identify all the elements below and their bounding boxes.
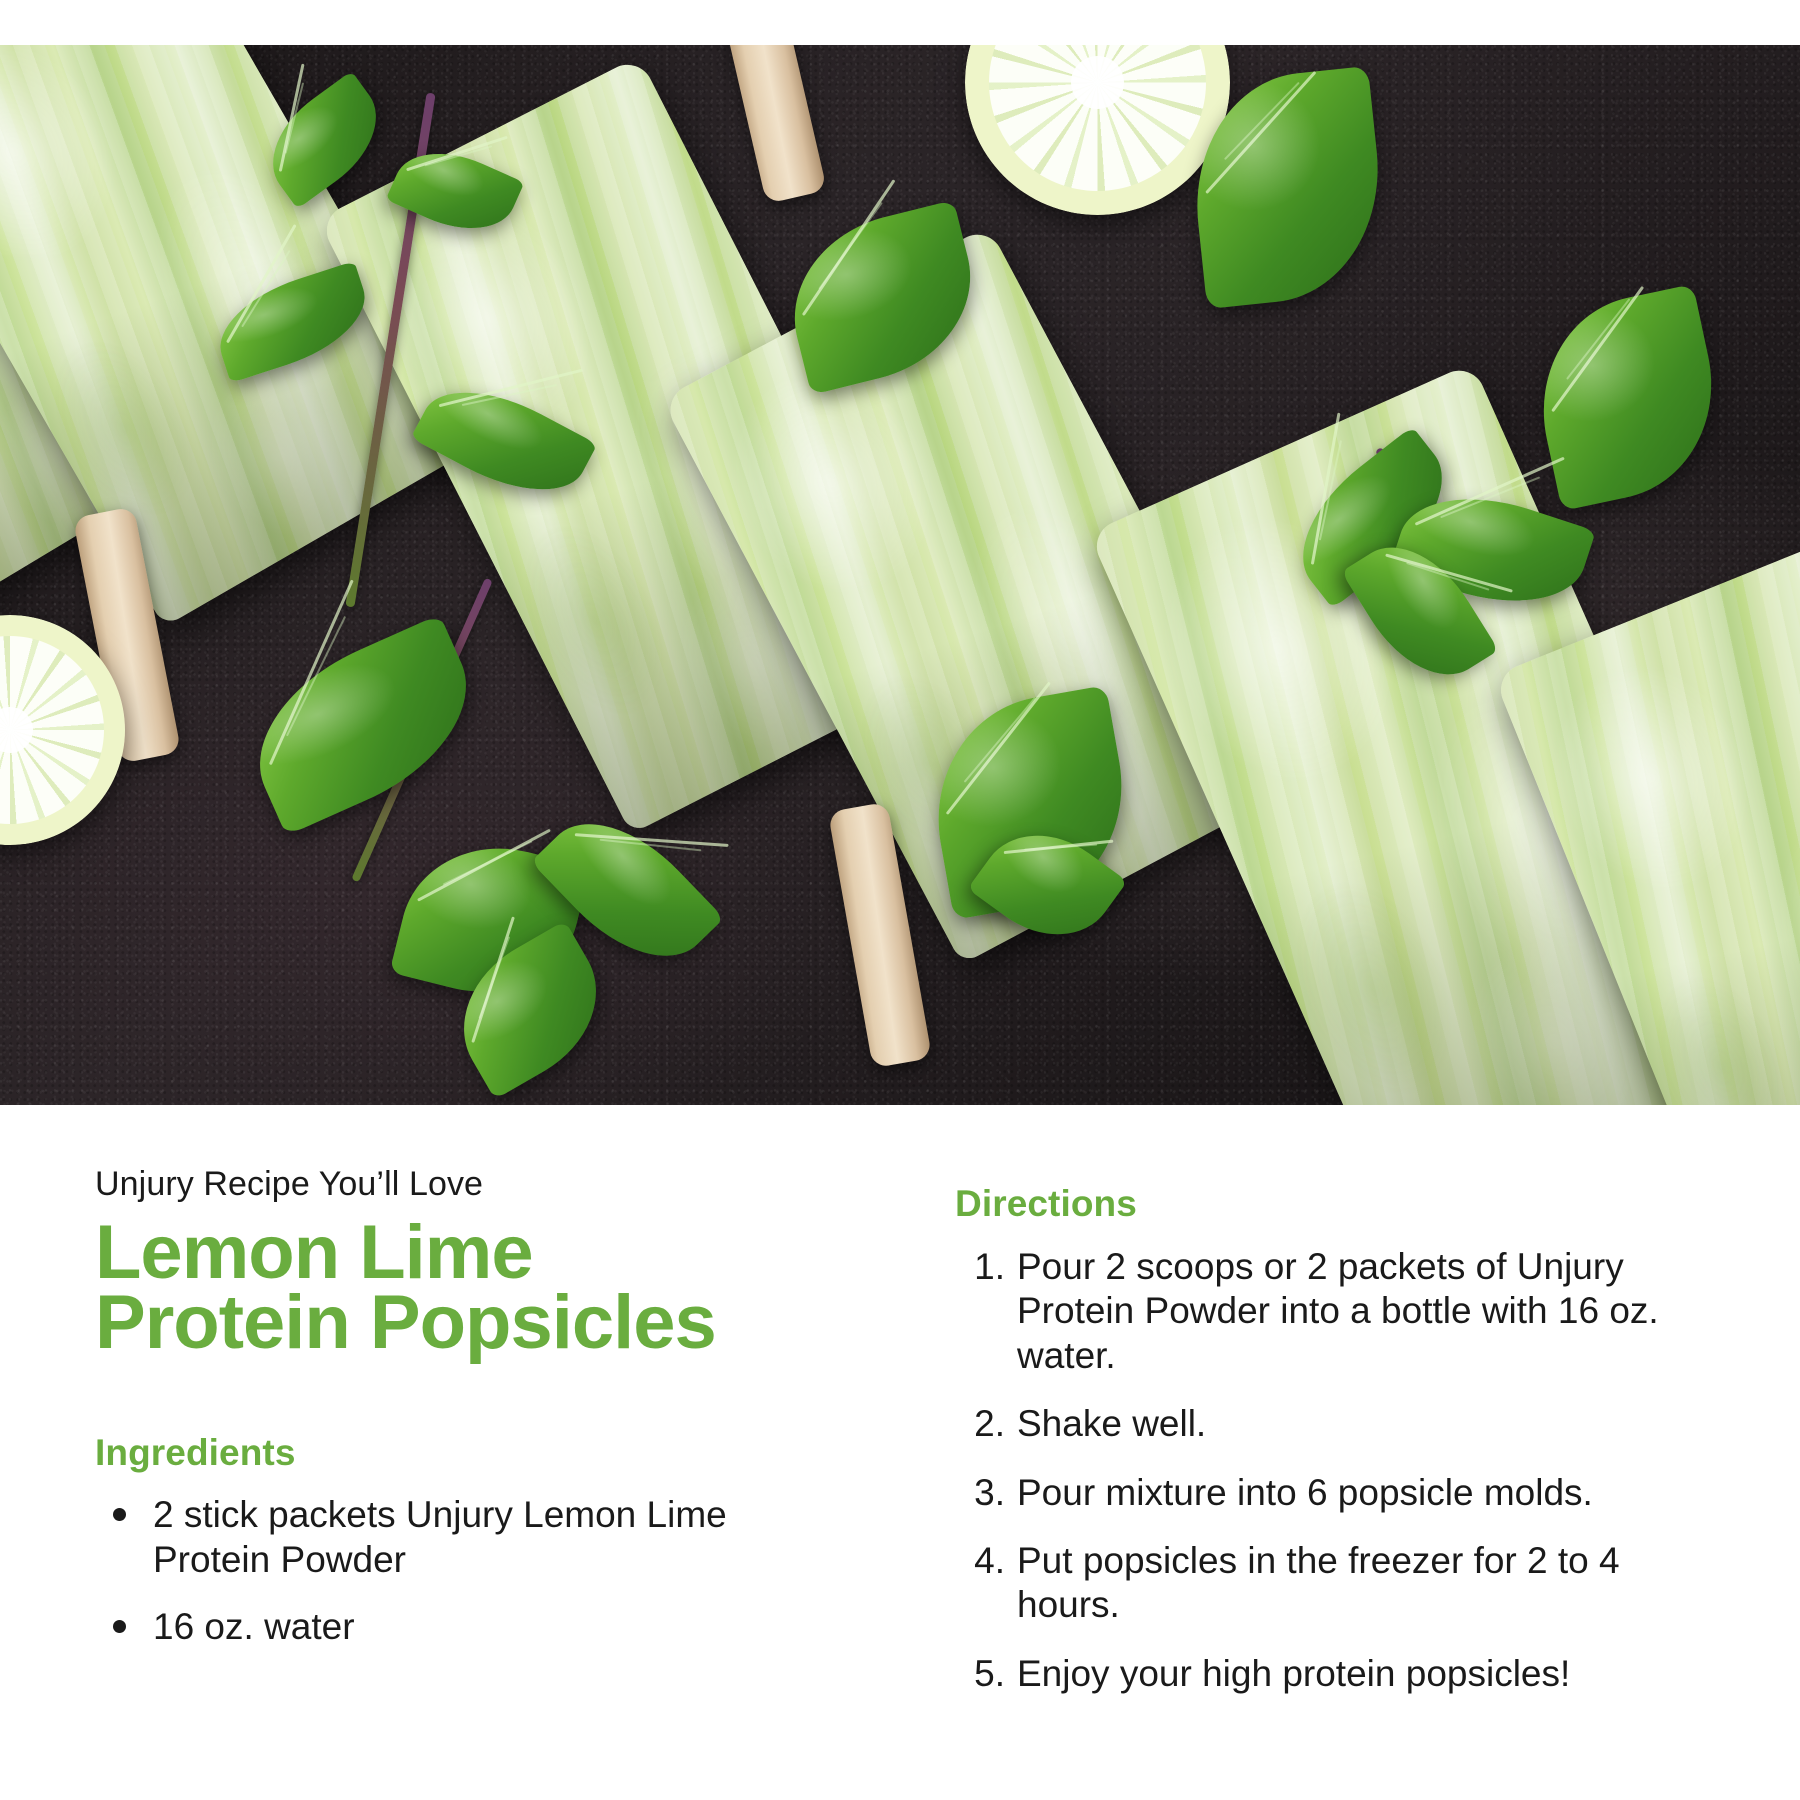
recipe-card: Unjury Recipe You’ll Love Lemon Lime Pro… xyxy=(0,0,1800,1800)
list-item: 5. Enjoy your high protein popsicles! xyxy=(955,1652,1715,1696)
page-title: Lemon Lime Protein Popsicles xyxy=(95,1218,755,1358)
directions-list: 1. Pour 2 scoops or 2 packets of Unjury … xyxy=(955,1245,1715,1696)
step-number: 1. xyxy=(955,1245,1005,1289)
recipe-right-column: Directions 1. Pour 2 scoops or 2 packets… xyxy=(955,1183,1715,1720)
list-item: 1. Pour 2 scoops or 2 packets of Unjury … xyxy=(955,1245,1715,1378)
recipe-left-column: Unjury Recipe You’ll Love Lemon Lime Pro… xyxy=(95,1165,755,1671)
step-text: Shake well. xyxy=(1017,1403,1206,1444)
bullet-icon xyxy=(113,1620,126,1633)
step-text: Pour mixture into 6 popsicle molds. xyxy=(1017,1472,1593,1513)
page-title-line-1: Lemon Lime xyxy=(95,1218,755,1288)
step-number: 4. xyxy=(955,1539,1005,1583)
step-text: Pour 2 scoops or 2 packets of Unjury Pro… xyxy=(1017,1246,1659,1376)
list-item: 2 stick packets Unjury Lemon Lime Protei… xyxy=(95,1492,755,1582)
ingredients-heading: Ingredients xyxy=(95,1432,755,1474)
step-text: Put popsicles in the freezer for 2 to 4 … xyxy=(1017,1540,1620,1625)
list-item: 4. Put popsicles in the freezer for 2 to… xyxy=(955,1539,1715,1628)
recipe-content: Unjury Recipe You’ll Love Lemon Lime Pro… xyxy=(0,1105,1800,1800)
step-text: Enjoy your high protein popsicles! xyxy=(1017,1653,1570,1694)
recipe-eyebrow: Unjury Recipe You’ll Love xyxy=(95,1165,755,1204)
recipe-hero-photo xyxy=(0,45,1800,1105)
step-number: 5. xyxy=(955,1652,1005,1696)
step-number: 2. xyxy=(955,1402,1005,1446)
bullet-icon xyxy=(113,1508,126,1521)
ingredient-text: 16 oz. water xyxy=(153,1606,355,1647)
page-title-line-2: Protein Popsicles xyxy=(95,1288,755,1358)
ingredients-list: 2 stick packets Unjury Lemon Lime Protei… xyxy=(95,1492,755,1649)
list-item: 16 oz. water xyxy=(95,1604,755,1649)
step-number: 3. xyxy=(955,1471,1005,1515)
list-item: 3. Pour mixture into 6 popsicle molds. xyxy=(955,1471,1715,1515)
ingredient-text: 2 stick packets Unjury Lemon Lime Protei… xyxy=(153,1494,727,1580)
list-item: 2. Shake well. xyxy=(955,1402,1715,1446)
directions-heading: Directions xyxy=(955,1183,1715,1225)
